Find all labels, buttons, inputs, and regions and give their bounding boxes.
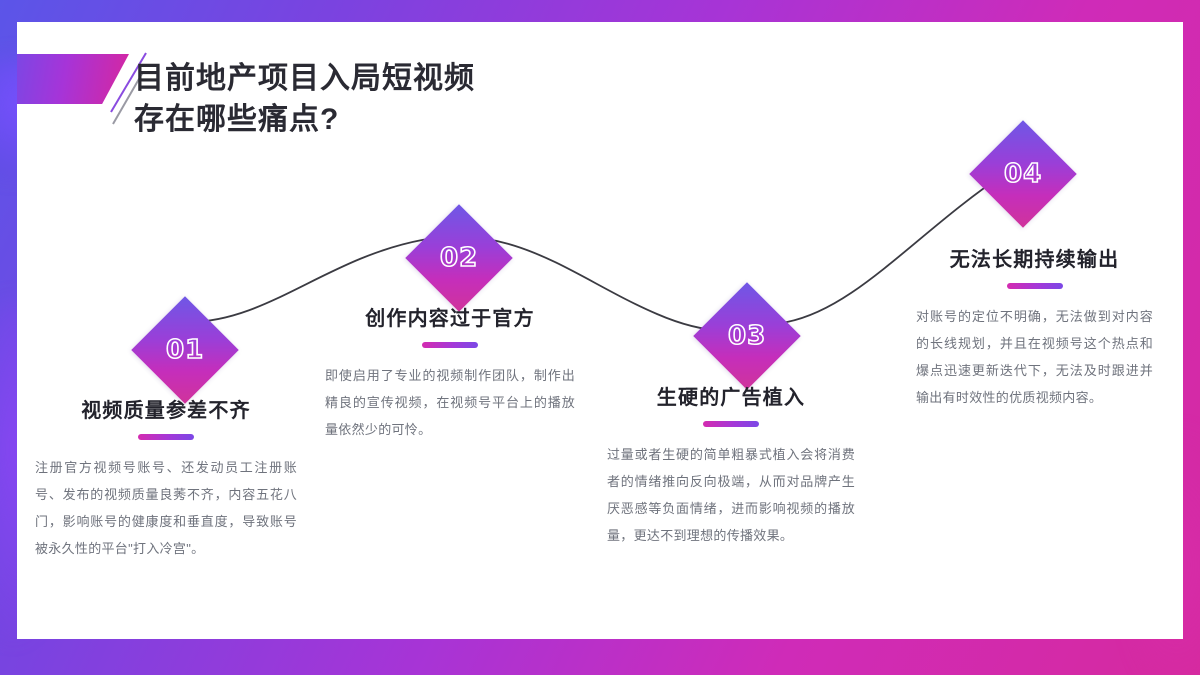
step-diamond-02[interactable]: 02 (405, 204, 512, 311)
page-title: 目前地产项目入局短视频 存在哪些痛点? (134, 58, 774, 140)
step-rule-03 (703, 421, 759, 427)
step-rule-04 (1007, 283, 1063, 289)
step-item-02: 创作内容过于官方 即使启用了专业的视频制作团队，制作出精良的宣传视频，在视频号平… (325, 305, 575, 443)
step-heading-01: 视频质量参差不齐 (35, 397, 297, 425)
step-heading-04: 无法长期持续输出 (916, 246, 1153, 274)
page-title-line-2: 存在哪些痛点? (134, 99, 774, 140)
step-rule-01 (138, 434, 194, 440)
step-body-01: 注册官方视频号账号、还发动员工注册账号、发布的视频质量良莠不齐，内容五花八门，影… (35, 454, 297, 562)
page-title-line-1: 目前地产项目入局短视频 (134, 58, 774, 99)
step-heading-02: 创作内容过于官方 (325, 305, 575, 333)
slide-root: 目前地产项目入局短视频 存在哪些痛点? 01 视频质量参差不齐 注册官方视频号账… (0, 0, 1200, 675)
step-diamond-01[interactable]: 01 (131, 296, 238, 403)
step-item-01: 视频质量参差不齐 注册官方视频号账号、还发动员工注册账号、发布的视频质量良莠不齐… (35, 397, 297, 562)
step-heading-03: 生硬的广告植入 (607, 384, 855, 412)
step-number-03: 03 (728, 321, 766, 351)
step-rule-02 (422, 342, 478, 348)
step-number-01: 01 (166, 335, 204, 365)
step-number-04: 04 (1004, 159, 1042, 189)
step-diamond-03[interactable]: 03 (693, 282, 800, 389)
step-item-03: 生硬的广告植入 过量或者生硬的简单粗暴式植入会将消费者的情绪推向反向极端，从而对… (607, 384, 855, 549)
slide-canvas: 目前地产项目入局短视频 存在哪些痛点? 01 视频质量参差不齐 注册官方视频号账… (17, 22, 1183, 639)
step-number-02: 02 (440, 243, 478, 273)
step-body-03: 过量或者生硬的简单粗暴式植入会将消费者的情绪推向反向极端，从而对品牌产生厌恶感等… (607, 441, 855, 549)
step-body-04: 对账号的定位不明确，无法做到对内容的长线规划，并且在视频号这个热点和爆点迅速更新… (916, 303, 1153, 411)
step-body-02: 即使启用了专业的视频制作团队，制作出精良的宣传视频，在视频号平台上的播放量依然少… (325, 362, 575, 443)
step-diamond-04[interactable]: 04 (969, 120, 1076, 227)
step-item-04: 无法长期持续输出 对账号的定位不明确，无法做到对内容的长线规划，并且在视频号这个… (916, 246, 1153, 411)
